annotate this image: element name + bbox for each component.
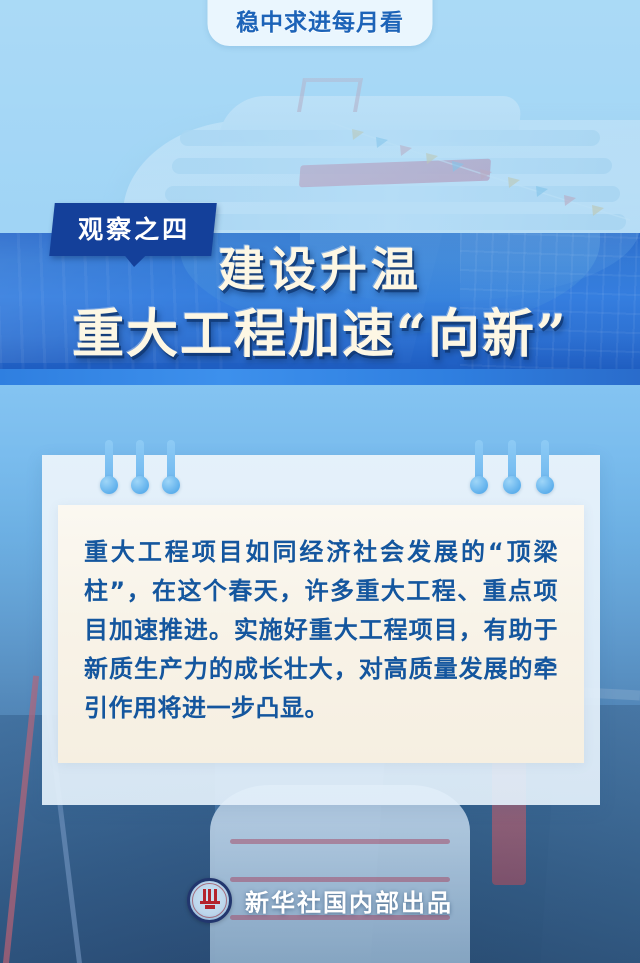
ship-deck-line: [158, 214, 627, 230]
cruise-ship-lower: [210, 785, 470, 963]
content-body-text: 重大工程项目如同经济社会发展的“顶梁柱”，在这个春天，许多重大工程、重点项目加速…: [84, 533, 558, 727]
ship-deck-line: [180, 130, 601, 146]
ship-deck-line: [165, 186, 621, 202]
ship-deck-line: [172, 158, 613, 174]
header-tab: 稳中求进每月看: [208, 0, 433, 46]
ship-mast-icon: [297, 78, 363, 112]
header-tab-label: 稳中求进每月看: [236, 3, 404, 37]
xinhua-logo-icon: [187, 878, 232, 923]
series-badge: 观察之四: [49, 203, 217, 256]
bunting-flags-icon: [330, 116, 630, 226]
series-badge-label: 观察之四: [78, 210, 190, 246]
content-card-panel: 重大工程项目如同经济社会发展的“顶梁柱”，在这个春天，许多重大工程、重点项目加速…: [58, 505, 584, 763]
footer-label: 新华社国内部出品: [245, 883, 453, 918]
cruise-ship-superstructure: [218, 96, 521, 142]
content-card: 重大工程项目如同经济社会发展的“顶梁柱”，在这个春天，许多重大工程、重点项目加速…: [42, 455, 600, 805]
footer: 新华社国内部出品: [0, 878, 640, 923]
poster-root: GRII IA 稳中求进每月看 观察之四 建设升温 重大工程加速“向新” 重大工…: [0, 0, 640, 963]
ship-red-banner: [299, 159, 491, 188]
